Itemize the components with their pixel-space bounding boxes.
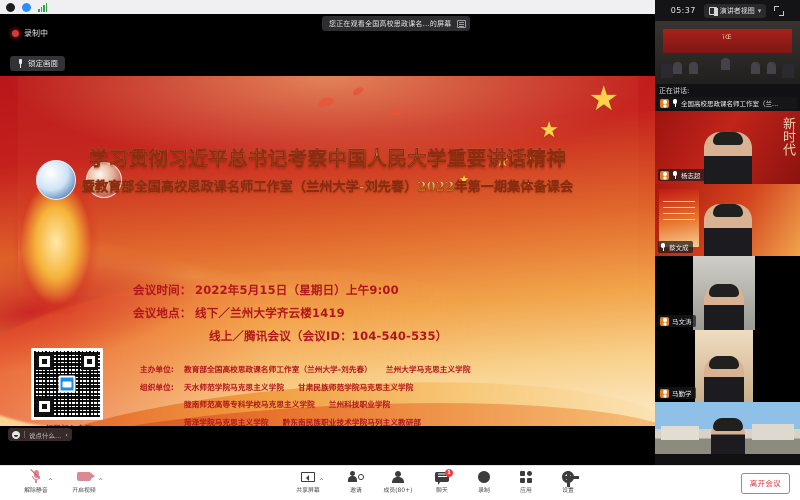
building-decor: [661, 426, 699, 440]
participant-video: [693, 256, 755, 330]
camera-off-icon: [77, 472, 91, 481]
organizers-block: 主办单位: 教育部全国高校思政课名师工作室（兰州大学-刘先春） 兰州大学马克思主…: [140, 364, 471, 426]
chat-label: 聊天: [420, 485, 464, 494]
meeting-place-value: 线下／兰州大学齐云楼1419: [195, 305, 345, 321]
meeting-time-value: 2022年5月15日（星期日）上午9:00: [195, 282, 399, 298]
slide-title-group: 学习贯彻习近平总书记考察中国人民大学重要讲话精神 暨教育部全国高校思政课名师工作…: [0, 76, 655, 195]
unmute-label: 解除静音: [14, 485, 58, 494]
members-label: 成员(80+): [376, 485, 420, 494]
poster-decor: [659, 189, 699, 247]
shield-icon: [6, 3, 15, 12]
host-item-2: 兰州大学马克思主义学院: [386, 364, 471, 375]
tile-participant-5[interactable]: [655, 402, 800, 454]
tile-participant-1[interactable]: 新时代 杨志超: [655, 111, 800, 184]
participant-name-tag: 杨志超: [658, 169, 705, 181]
active-speaker-name: 全国高校思政课名师工作室（兰...: [681, 98, 778, 108]
tile-participant-2[interactable]: 蔡文成: [655, 184, 800, 256]
seat-shape: [661, 64, 673, 78]
microphone-muted-icon: [32, 470, 40, 483]
person-silhouette: [673, 62, 682, 74]
meeting-online-line: 线上／腾讯会议（会议ID：104-540-535）: [133, 328, 447, 344]
microphone-icon: [672, 171, 678, 179]
organizer-item-6: 黔东南民族职业技术学院马列主义教研部: [283, 417, 422, 427]
host-line: 主办单位: 教育部全国高校思政课名师工作室（兰州大学-刘先春） 兰州大学马克思主…: [140, 364, 471, 375]
chevron-up-icon[interactable]: ^: [98, 478, 103, 485]
browser-icon: [22, 3, 31, 12]
participant-video: [704, 204, 752, 256]
participant-video: [704, 132, 752, 184]
share-notice-text: 您正在观看全国高校思政课名...的屏幕: [329, 19, 451, 29]
person-silhouette: [721, 58, 730, 70]
layout-icon: [709, 7, 717, 15]
recording-indicator: 录制中: [12, 28, 48, 39]
person-silhouette: [767, 62, 776, 74]
chat-input-placeholder: 说点什么...: [29, 430, 61, 440]
chat-button[interactable]: 1 聊天: [420, 469, 464, 494]
meeting-stage: 您正在观看全国高校思政课名...的屏幕 录制中 锁定画面 ★ ★: [0, 14, 655, 465]
record-circle-icon: [478, 471, 490, 483]
share-screen-label: 共享屏幕: [286, 485, 330, 494]
qr-caption: 扫码加入会议: [31, 423, 107, 426]
chevron-up-icon[interactable]: ^: [48, 478, 53, 485]
unmute-button[interactable]: ^ 解除静音: [14, 469, 58, 494]
tile-participant-4[interactable]: 马勤学: [655, 330, 800, 402]
participant-name: 马文涛: [672, 316, 692, 326]
participant-name: 马勤学: [672, 388, 692, 398]
avatar: [660, 317, 669, 326]
meeting-toolbar: ^ 解除静音 ^ 开启视频 ^ 共享屏幕 邀请 成员(80+) 1 聊天: [0, 465, 655, 500]
share-notice-banner[interactable]: 您正在观看全国高校思政课名...的屏幕: [322, 16, 470, 31]
organizer-line-1: 组织单位: 天水师范学院马克思主义学院 甘肃民族师范学院马克思主义学院: [140, 382, 471, 393]
expand-icon[interactable]: [774, 6, 784, 16]
members-button[interactable]: 成员(80+): [376, 469, 420, 494]
tile-participant-3[interactable]: 马文涛: [655, 256, 800, 330]
view-mode-selector[interactable]: 演讲者视图 ▾: [704, 4, 767, 18]
chat-bubble-icon: 1: [435, 472, 449, 482]
record-label: 录制: [462, 485, 506, 494]
organizer-item-5: 菏泽学院马克思主义学院: [184, 417, 269, 427]
qr-finder-icon: [36, 398, 53, 415]
invite-person-icon: [349, 471, 364, 483]
settings-button[interactable]: 设置: [546, 469, 590, 494]
rail-footer: 离开会议: [655, 465, 800, 500]
meeting-place-label: 会议地点：: [133, 305, 195, 321]
share-screen-button[interactable]: ^ 共享屏幕: [286, 469, 330, 494]
meeting-place-line: 会议地点： 线下／兰州大学齐云楼1419: [133, 305, 447, 321]
organizer-item-2: 甘肃民族师范学院马克思主义学院: [298, 382, 413, 393]
screen-share-icon: [301, 472, 315, 482]
recording-dot-icon: [12, 30, 19, 37]
participant-face: [711, 418, 745, 454]
participant-video: [655, 402, 800, 454]
slide-title-main: 学习贯彻习近平总书记考察中国人民大学重要讲话精神: [0, 142, 655, 171]
participant-video: [695, 330, 753, 402]
avatar: [660, 99, 669, 108]
apps-grid-icon: [520, 471, 532, 483]
building-decor: [752, 424, 794, 440]
participant-name-tag: 蔡文成: [658, 241, 693, 253]
person-silhouette: [751, 62, 760, 74]
slide-title-sub: 暨教育部全国高校思政课名师工作室（兰州大学-刘先春）2022年第一期集体备课会: [0, 176, 655, 195]
meeting-app-window: 您正在观看全国高校思政课名...的屏幕 录制中 锁定画面 ★ ★: [0, 0, 800, 500]
chat-unread-badge: 1: [445, 469, 453, 477]
meeting-timer: 05:37: [671, 6, 696, 15]
organizer-item-4: 兰州科技职业学院: [329, 399, 391, 410]
stage-chat-input[interactable]: 说点什么... ‹: [8, 428, 72, 441]
meeting-time-line: 会议时间： 2022年5月15日（星期日）上午9:00: [133, 282, 447, 298]
record-button[interactable]: 录制: [462, 469, 506, 494]
leave-meeting-button[interactable]: 离开会议: [741, 473, 790, 494]
invite-button[interactable]: 邀请: [334, 469, 378, 494]
os-status-bar: [0, 0, 655, 14]
meeting-info-block: 会议时间： 2022年5月15日（星期日）上午9:00 会议地点： 线下／兰州大…: [133, 282, 447, 351]
chevron-down-icon[interactable]: ▾: [758, 7, 762, 15]
view-mode-label: 演讲者视图: [720, 6, 755, 16]
organizer-label: 组织单位:: [140, 382, 184, 393]
start-video-button[interactable]: ^ 开启视频: [62, 469, 106, 494]
host-label: 主办单位:: [140, 364, 184, 375]
active-speaker-tag[interactable]: 全国高校思政课名师工作室（兰...: [658, 97, 797, 109]
panel-toggle-icon[interactable]: [457, 20, 466, 28]
meeting-online-value: 线上／腾讯会议（会议ID：104-540-535）: [209, 328, 447, 344]
meeting-time-label: 会议时间：: [133, 282, 195, 298]
microphone-icon: [672, 99, 678, 107]
slide-torch-graphic: [12, 184, 100, 314]
speaking-label: 正在讲话:: [655, 84, 800, 97]
participant-name-tag: 马勤学: [658, 387, 696, 399]
shared-slide: ★ ★ ★ ★ 学习贯彻习近平总书记考察中国人民大学重要讲话精神 暨教育部全国高…: [0, 76, 655, 426]
participant-name-tag: 马文涛: [658, 315, 696, 327]
apps-button[interactable]: 应用: [504, 469, 548, 494]
microphone-icon: [660, 243, 666, 251]
recording-label: 录制中: [24, 28, 48, 39]
collapse-icon[interactable]: ‹: [65, 431, 68, 439]
lock-view-label: 锁定画面: [28, 58, 58, 69]
participant-face: [704, 284, 744, 330]
smiley-icon[interactable]: [12, 431, 20, 439]
avatar: [660, 171, 669, 180]
lock-view-button[interactable]: 锁定画面: [10, 56, 65, 71]
qr-finder-icon: [36, 353, 53, 370]
qr-code-block: 扫码加入会议: [31, 348, 107, 426]
members-icon: [392, 471, 404, 483]
invite-label: 邀请: [334, 485, 378, 494]
organizer-line-2: 陇南师范高等专科学校马克思主义学院 兰州科技职业学院: [140, 399, 471, 410]
participant-face: [704, 356, 744, 402]
qr-code-image[interactable]: [31, 348, 103, 420]
pin-icon: [17, 59, 24, 68]
host-item-1: 教育部全国高校思政课名师工作室（兰州大学-刘先春）: [184, 364, 372, 375]
organizer-line-3: 菏泽学院马克思主义学院 黔东南民族职业技术学院马列主义教研部: [140, 417, 471, 427]
calligraphy-decor: 新时代: [780, 117, 794, 156]
avatar: [660, 389, 669, 398]
qr-center-logo-icon: [59, 376, 76, 393]
seat-shape: [782, 64, 794, 78]
apps-label: 应用: [504, 485, 548, 494]
signal-bars-icon: [38, 3, 47, 12]
qr-finder-icon: [81, 353, 98, 370]
participant-name: 蔡文成: [669, 242, 689, 252]
participant-rail: 05:37 演讲者视图 ▾ 正在讲话: 全国高校思政课名师工作室（兰...: [655, 0, 800, 500]
gear-icon: [562, 471, 574, 483]
participant-name: 杨志超: [681, 170, 701, 180]
organizer-item-3: 陇南师范高等专科学校马克思主义学院: [184, 399, 315, 410]
organizer-item-1: 天水师范学院马克思主义学院: [184, 382, 284, 393]
tile-room-view[interactable]: [655, 21, 800, 84]
rail-header: 05:37 演讲者视图 ▾: [655, 0, 800, 21]
room-backdrop: [663, 29, 792, 53]
chevron-up-icon[interactable]: ^: [319, 478, 324, 485]
start-video-label: 开启视频: [62, 485, 106, 494]
person-silhouette: [689, 62, 698, 74]
